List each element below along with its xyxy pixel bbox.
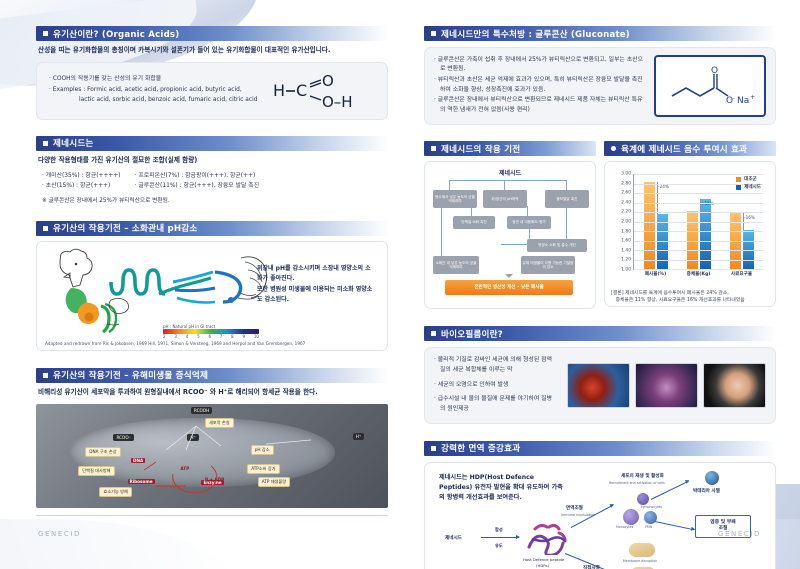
section-mechanism: 제네시드의 작용 기전 제네시드 음수에서 낮은 농도의 균을 억제하여 위/장…	[424, 141, 596, 309]
section-genecid-composition: 제네시드는 다양한 작용형태를 가진 유기산의 절묘한 조합(실제 함량) · …	[36, 136, 388, 204]
label-hdp-sub: (HDPs)	[536, 563, 549, 568]
left-column: 유기산이란? (Organic Acids) 산성을 띠는 유기화합물의 총칭이…	[36, 26, 388, 508]
label-recruitment: 세포의 재생 및 활성화	[621, 473, 664, 479]
section-title: 유기산이란? (Organic Acids)	[53, 28, 179, 40]
section-ph-reduction: 유기산의 작용기전 – 소화관내 pH감소	[36, 221, 388, 351]
formic-acid-structure: H C O O–H	[273, 71, 359, 111]
chart-legend-item: 대조군	[736, 176, 761, 182]
section-title: 제네시드만의 특수처방 : 글루콘산 (Gluconate)	[441, 28, 630, 40]
svg-text:C: C	[296, 81, 307, 100]
flow-arrow-down-icon	[505, 274, 513, 278]
section-broiler-trial: 육계에 제네시드 음수 투여시 효과 폐사율(%)-24%증체율(Kg)+11%…	[604, 141, 776, 309]
divider-left	[36, 515, 388, 516]
biofilm-bullets: · 물리적 기질로 감싸인 세균에 의해 형성된 점액질의 세균 복합체를 이루…	[434, 355, 557, 416]
label-induction: 유도	[495, 543, 503, 549]
flow-line	[501, 244, 527, 245]
label-monocytes: Monocytes	[616, 525, 633, 529]
flow-line	[471, 206, 472, 216]
chart-y-tick: 1.40	[621, 248, 631, 253]
label-lymphocytes: Lymphocytes	[641, 505, 662, 509]
svg-text:O: O	[322, 72, 334, 90]
svg-text:Na: Na	[737, 96, 749, 106]
chart-y-tick: 2.00	[621, 220, 631, 225]
bacteria-cell-icon	[705, 471, 719, 485]
chart-y-tick: 1.00	[621, 268, 631, 273]
section-biofilm: 바이오필름이란? · 물리적 기질로 감싸인 세균에 의해 형성된 점액질의 세…	[424, 326, 776, 424]
flow-box-8: 유해 미생물이 이용 가능한 기질량이 감소	[521, 256, 575, 274]
flow-box-7: 소화관 내 낮은 농도의 균을 억제하여	[433, 256, 479, 274]
chart-legend-label: 대조군	[744, 176, 757, 182]
list-item: lactic acid, sorbic acid, benzoic acid, …	[49, 96, 257, 106]
arrow-genecid-to-hdp	[481, 537, 519, 538]
section-organic-acids: 유기산이란? (Organic Acids) 산성을 띠는 유기화합물의 총칭이…	[36, 26, 388, 120]
composition-bullets-right: · 프로피온산(7%) : 항곰팡이(+++), 항균(++) · 글루콘산(1…	[135, 172, 260, 193]
organic-acids-bullets: · COOH의 작용기를 갖는 산성의 유기 화합물 · Examples : …	[49, 75, 257, 107]
chart-y-tick: 1.20	[621, 258, 631, 263]
arrow-to-inflammation	[655, 521, 694, 530]
flow-line	[566, 206, 567, 239]
flow-box-2: 위/장관의 pH하락	[483, 190, 527, 208]
flow-line	[504, 180, 505, 190]
list-item: · 글루콘산은 가축이 섭취 후 장내에서 25%가 뷰티릭산으로 변환되고, …	[434, 56, 646, 75]
label-immune-modulation: 면역조절	[566, 505, 583, 511]
flow-box-4: 단백질 소화 촉진	[453, 216, 495, 229]
flow-line	[529, 227, 530, 239]
chart-annotation: -16%	[744, 215, 755, 220]
chart-y-tick: 1.80	[621, 229, 631, 234]
bacteria-cell-diagram: RCOOH 세포막 손실 RCOO⁻ H⁺ H⁺ pH 감소 DNA 구조 손상…	[36, 404, 388, 508]
chart-delta-arrow	[700, 199, 701, 211]
chart-legend: 대조군제네시드	[736, 176, 761, 192]
gluconate-bullets: · 글루콘산은 가축이 섭취 후 장내에서 25%가 뷰티릭산으로 변환되고, …	[434, 56, 646, 116]
composition-columns: · 개미산(35%) : 항균(++++) · 초산(15%) : 항균(+++…	[42, 172, 388, 193]
hdp-protein-ribbon-icon	[525, 521, 571, 555]
svg-text:O: O	[711, 66, 718, 76]
chart-y-tick: 1.60	[621, 239, 631, 244]
decorative-swoosh-bottom-left	[0, 519, 230, 569]
chart-legend-swatch	[736, 177, 741, 182]
section-immunity: 강력한 면역 증강효과 제네시드는 HDP(Host Defence Pepti…	[424, 441, 776, 569]
chart-legend-swatch	[736, 185, 741, 190]
bullet-square-icon	[43, 141, 48, 146]
flow-box-3: 융모발달 촉진	[545, 190, 589, 208]
monocyte-cell-icon	[623, 509, 639, 525]
chart-legend-item: 제네시드	[736, 184, 761, 190]
flow-root-label: 제네시드	[499, 168, 521, 177]
biofilm-photo-drinker	[567, 363, 630, 408]
label-synthesis: 합성	[495, 527, 503, 533]
bullet-circle-icon	[611, 146, 616, 151]
list-item: · 글루콘산은 장내에서 뷰티릭산으로 변환되므로 제네시드 제품 자체는 뷰티…	[434, 96, 646, 115]
chart-gridline: 2.40	[634, 203, 763, 204]
mechanism-flowchart: 제네시드 음수에서 낮은 농도의 균을 억제하여 위/장관의 pH하락 융모발달…	[431, 168, 589, 288]
immunity-intro: 제네시드는 HDP(Host Defence Peptides) 유전자 발현을…	[439, 473, 567, 503]
butyrate-svg: O O - Na +	[664, 62, 756, 110]
chart-gridline: 2.00	[634, 222, 763, 223]
section-title: 제네시드는	[53, 137, 94, 149]
bullet-square-icon	[43, 31, 48, 36]
label-genecid: 제네시드	[445, 535, 462, 541]
section-title-bar-immunity: 강력한 면역 증강효과	[424, 441, 776, 456]
list-item: · 프로피온산(7%) : 항곰팡이(+++), 항균(++)	[135, 172, 260, 182]
flow-line	[566, 180, 567, 190]
bullet-square-icon	[431, 331, 436, 336]
chart-x-label: 사료요구율	[731, 271, 752, 277]
list-item: · 글루콘산(11%) : 항균(+++), 장융모 발달 촉진	[135, 182, 260, 192]
gi-diagram-citation: Adapted and redrawn from Ris & Jokobsen,…	[45, 341, 379, 346]
list-item: · 개미산(35%) : 항균(++++)	[42, 172, 121, 182]
section-title: 유기산의 작용기전 – 소화관내 pH감소	[53, 222, 198, 234]
chart-gridline: 1.60	[634, 241, 763, 242]
bacterium-membrane-icon	[629, 543, 655, 557]
cell-arrows-svg	[36, 404, 388, 508]
flow-line	[527, 206, 528, 216]
ph-note: 위장내 pH를 감소시키며 소장내 영양소의 소화가 좋아진다.또한 병원성 미…	[257, 264, 375, 305]
section-title-bar-organic-acids: 유기산이란? (Organic Acids)	[36, 26, 388, 41]
bullet-square-icon	[431, 146, 436, 151]
svg-text:-: -	[733, 96, 735, 102]
chart-y-tick: 2.20	[621, 210, 631, 215]
chart-gridline: 1.80	[634, 231, 763, 232]
organic-acids-panel: · COOH의 작용기를 갖는 산성의 유기 화합물 · Examples : …	[36, 62, 388, 120]
chicken-gi-tract-diagram: 위장내 pH를 감소시키며 소장내 영양소의 소화가 좋아진다.또한 병원성 미…	[45, 248, 379, 340]
list-item: · 뷰티릭산과 초산은 세균 억제에 효과가 있으며, 특히 뷰티릭산은 장융모…	[434, 76, 646, 95]
section-title: 제네시드의 작용 기전	[441, 143, 520, 155]
chart-gridline: 2.60	[634, 193, 763, 194]
composition-lead: 다양한 작용형태를 가진 유기산의 절묘한 조합(실제 함량)	[38, 156, 388, 166]
immunity-panel: 제네시드는 HDP(Host Defence Peptides) 유전자 발현을…	[424, 462, 776, 569]
flow-box-6: 영양소 소화 및 흡수 개선	[527, 239, 587, 252]
mechanism-and-chart-row: 제네시드의 작용 기전 제네시드 음수에서 낮은 농도의 균을 억제하여 위/장…	[424, 141, 776, 309]
section-title-bar-biofilm: 바이오필름이란?	[424, 326, 776, 341]
list-item: · 초산(15%) : 항균(+++)	[42, 182, 121, 192]
biofilm-panel: · 물리적 기질로 감싸인 세균에 의해 형성된 점액질의 세균 복합체를 이루…	[424, 347, 776, 424]
label-pmn: PMN	[645, 525, 652, 529]
section-title-bar-antimicrobial: 유기산의 작용기전 – 유해미생물 증식억제	[36, 368, 388, 383]
chart-y-tick: 2.40	[621, 200, 631, 205]
svg-text:O–H: O–H	[322, 93, 353, 111]
list-item: · 급수시설 내 물의 물질에 문제를 야기하여 질병의 원인제공	[434, 394, 557, 415]
biofilm-pipe-photo	[703, 363, 766, 408]
section-title-bar-trial: 육계에 제네시드 음수 투여시 효과	[604, 141, 776, 156]
immunity-diagram: 제네시드는 HDP(Host Defence Peptides) 유전자 발현을…	[433, 469, 767, 569]
svg-text:+: +	[750, 94, 755, 101]
chart-gridline: 3.00	[634, 174, 763, 175]
svg-text:H: H	[273, 81, 285, 100]
antimicrobial-lead: 비해리성 유기산이 세포막을 투과하여 원형질내에서 RCOO⁻ 와 H⁺로 해…	[38, 388, 388, 398]
flow-line	[441, 206, 442, 256]
chart-x-label: 증체율(Kg)	[687, 271, 711, 277]
right-column: 제네시드만의 특수처방 : 글루콘산 (Gluconate) · 글루콘산은 가…	[424, 26, 776, 569]
chart-delta-arrow	[657, 182, 658, 214]
composition-bullets-left: · 개미산(35%) : 항균(++++) · 초산(15%) : 항균(+++…	[42, 172, 121, 193]
flow-result-box: 전반적인 생산성 개선 – 낮은 폐사율	[445, 280, 573, 295]
list-item: · 세균의 오염으로 인하여 발생	[434, 380, 557, 390]
mechanism-panel: 제네시드 음수에서 낮은 농도의 균을 억제하여 위/장관의 pH하락 융모발달…	[424, 161, 596, 309]
brochure-page: 유기산이란? (Organic Acids) 산성을 띠는 유기화합물의 총칭이…	[0, 0, 800, 569]
chart-y-tick: 3.00	[621, 172, 631, 177]
broiler-bar-chart: 폐사율(%)-24%증체율(Kg)+11%사료요구율-16% 3.002.802…	[611, 168, 769, 288]
chart-legend-label: 제네시드	[744, 184, 761, 190]
chart-annotation: -24%	[658, 184, 669, 189]
label-membrane-disruption: Membrane disruption	[623, 559, 657, 563]
section-title: 육계에 제네시드 음수 투여시 효과	[621, 143, 747, 155]
section-title-bar-genecid: 제네시드는	[36, 136, 388, 151]
label-recruitment-en: Recruitment and activation of cells	[609, 481, 665, 485]
organic-acids-lead: 산성을 띠는 유기화합물의 총칭이며 카복시기와 설폰기가 들어 있는 유기화합…	[38, 46, 388, 56]
section-title-bar-mechanism: 제네시드의 작용 기전	[424, 141, 596, 156]
list-item: · COOH의 작용기를 갖는 산성의 유기 화합물	[49, 75, 257, 85]
bullet-square-icon	[43, 226, 48, 231]
section-title: 강력한 면역 증강효과	[441, 442, 520, 454]
list-item: · 물리적 기질로 감싸인 세균에 의해 형성된 점액질의 세균 복합체를 이루…	[434, 355, 557, 376]
chart-gridline: 1.20	[634, 260, 763, 261]
lymphocyte-cell-icon	[637, 493, 649, 505]
chart-bar-genecid	[657, 214, 668, 269]
footer-left: GENECID	[38, 530, 81, 538]
chart-gridline: 1.00	[634, 269, 763, 270]
list-item: · Examples : Formic acid, acetic acid, p…	[49, 86, 257, 96]
gluconate-panel: · 글루콘산은 가축이 섭취 후 장내에서 25%가 뷰티릭산으로 변환되고, …	[424, 47, 776, 125]
label-bacteria-kill: 박테리아 사멸	[693, 488, 720, 494]
chart-y-tick: 2.60	[621, 191, 631, 196]
chart-gridline: 2.20	[634, 212, 763, 213]
composition-note: ※ 글루콘산은 장내에서 25%가 뷰티릭산으로 변환됨.	[42, 195, 388, 204]
gi-tract-svg	[45, 248, 277, 336]
trial-conclusion: [결론] 제네시드를 육계에 음수투여시 폐사율은 24% 감소, 증체율은 1…	[611, 291, 769, 305]
bullet-square-icon	[431, 446, 436, 451]
chart-bar-control	[644, 182, 655, 269]
section-gluconate: 제네시드만의 특수처방 : 글루콘산 (Gluconate) · 글루콘산은 가…	[424, 26, 776, 125]
chart-gridline: 1.40	[634, 250, 763, 251]
flow-line	[449, 180, 450, 190]
formic-acid-svg: H C O O–H	[273, 71, 359, 111]
chart-y-tick: 2.80	[621, 181, 631, 186]
section-antimicrobial: 유기산의 작용기전 – 유해미생물 증식억제 비해리성 유기산이 세포막을 투과…	[36, 368, 388, 508]
flow-line	[449, 180, 567, 181]
bullet-square-icon	[43, 373, 48, 378]
section-title-bar-ph: 유기산의 작용기전 – 소화관내 pH감소	[36, 221, 388, 236]
bullet-square-icon	[431, 31, 436, 36]
ph-panel: 위장내 pH를 감소시키며 소장내 영양소의 소화가 좋아진다.또한 병원성 미…	[36, 241, 388, 351]
section-title: 바이오필름이란?	[441, 328, 503, 340]
butyrate-sodium-structure: O O - Na +	[654, 55, 766, 117]
biofilm-illustration	[635, 363, 698, 408]
section-title-bar-gluconate: 제네시드만의 특수처방 : 글루콘산 (Gluconate)	[424, 26, 776, 41]
footer-right: GENECID	[718, 530, 761, 538]
chart-x-label: 폐사율(%)	[645, 271, 666, 277]
biofilm-photos	[567, 363, 766, 408]
trial-chart-panel: 폐사율(%)-24%증체율(Kg)+11%사료요구율-16% 3.002.802…	[604, 161, 776, 307]
section-title: 유기산의 작용기전 – 유해미생물 증식억제	[53, 369, 208, 381]
label-hdp: Host Defence peptide	[523, 557, 564, 562]
